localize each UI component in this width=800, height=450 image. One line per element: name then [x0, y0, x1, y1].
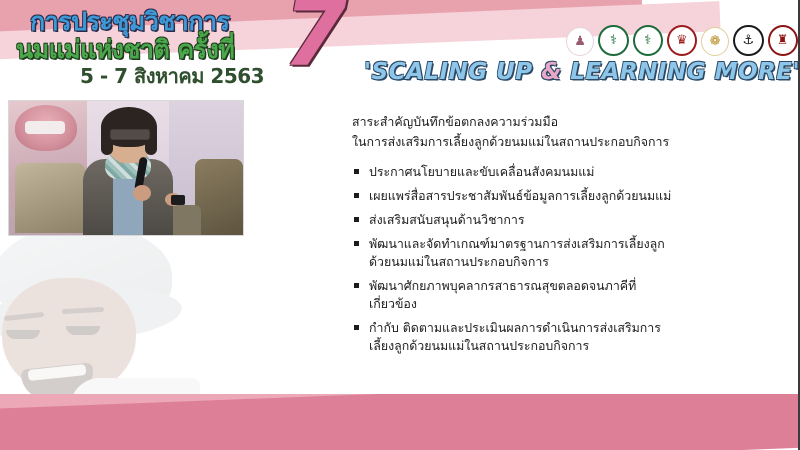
- bullet-square-icon: [354, 325, 359, 330]
- footer-pink-wedge: [0, 394, 800, 450]
- watermark-eye-left: [6, 330, 40, 339]
- list-item: พัฒนาศักยภาพบุคลากรสาธารณสุขตลอดจนภาคีที…: [352, 277, 772, 313]
- list-item-line2: เกี่ยวข้อง: [369, 295, 772, 313]
- sponsor-logo-row: ♟ ⚕ ⚕ ♛ ❁ ⚓ ♜ สสส THAI HEALTH: [566, 25, 800, 56]
- list-item-line1: ส่งเสริมสนับสนุนด้านวิชาการ: [369, 212, 525, 227]
- bullet-square-icon: [354, 193, 359, 198]
- royal-garuda-logo: ❁: [701, 27, 729, 56]
- bullet-square-icon: [354, 217, 359, 222]
- list-item-line1: กำกับ ติดตามและประเมินผลการดำเนินการส่งเ…: [369, 320, 661, 335]
- conference-date: 5 - 7 สิงหาคม 2563: [80, 60, 264, 92]
- tagline-ampersand: &: [541, 59, 562, 85]
- list-item-line1: พัฒนาและจัดทำเกณฑ์มาตรฐานการส่งเสริมการเ…: [369, 236, 665, 251]
- chair-right: [195, 159, 243, 235]
- list-item-line2: ด้วยนมแม่ในสถานประกอบกิจการ: [369, 253, 772, 271]
- list-item: เผยแพร่สื่อสารประชาสัมพันธ์ข้อมูลการเลี้…: [352, 187, 772, 205]
- tagline-part-before: 'SCALING UP: [364, 59, 541, 85]
- list-item-line2: เลี้ยงลูกด้วยนมแม่ในสถานประกอบกิจการ: [369, 337, 772, 355]
- bullet-square-icon: [354, 283, 359, 288]
- thai-royal-crest-logo: ♛: [667, 25, 697, 56]
- backdrop-teeth-graphic: [25, 121, 65, 134]
- speaker-hand-left: [133, 185, 151, 201]
- edition-number: 7: [283, 0, 347, 80]
- speaker-glasses: [110, 129, 150, 140]
- royal-patron-logo: ♟: [566, 27, 594, 56]
- national-emblem-logo: ♜: [768, 25, 798, 56]
- bullet-square-icon: [354, 169, 359, 174]
- university-seal-logo: ⚓: [733, 25, 763, 56]
- list-item: ส่งเสริมสนับสนุนด้านวิชาการ: [352, 211, 772, 229]
- chair-left: [15, 163, 85, 233]
- watermark-eye-right: [66, 326, 100, 335]
- intro-line-1: สาระสำคัญบันทึกข้อตกลงความร่วมมือ: [352, 112, 772, 132]
- tagline-part-after: LEARNING MORE': [562, 59, 800, 85]
- slide-content: สาระสำคัญบันทึกข้อตกลงความร่วมมือ ในการส…: [352, 112, 772, 361]
- bullet-square-icon: [354, 241, 359, 246]
- list-item: พัฒนาและจัดทำเกณฑ์มาตรฐานการส่งเสริมการเ…: [352, 235, 772, 271]
- list-item-line1: ประกาศนโยบายและขับเคลื่อนสังคมนมแม่: [369, 164, 594, 179]
- department-health-logo: ⚕: [633, 25, 663, 56]
- presentation-slide: การประชุมวิชาการ นมแม่แห่งชาติ ครั้งที่ …: [0, 0, 800, 450]
- header-banner: การประชุมวิชาการ นมแม่แห่งชาติ ครั้งที่ …: [0, 0, 800, 92]
- intro-line-2: ในการส่งเสริมการเลี้ยงลูกด้วยนมแม่ในสถาน…: [352, 132, 772, 152]
- ministry-public-health-logo: ⚕: [598, 25, 628, 56]
- presentation-clicker: [171, 195, 185, 205]
- bullet-list: ประกาศนโยบายและขับเคลื่อนสังคมนมแม่ เผยแ…: [352, 163, 772, 355]
- conference-tagline: 'SCALING UP & LEARNING MORE': [364, 59, 800, 85]
- conference-speaker-video[interactable]: [8, 100, 244, 236]
- smiling-child-watermark: [0, 230, 250, 420]
- list-item: กำกับ ติดตามและประเมินผลการดำเนินการส่งเ…: [352, 319, 772, 355]
- list-item: ประกาศนโยบายและขับเคลื่อนสังคมนมแม่: [352, 163, 772, 181]
- list-item-line1: เผยแพร่สื่อสารประชาสัมพันธ์ข้อมูลการเลี้…: [369, 188, 671, 203]
- list-item-line1: พัฒนาศักยภาพบุคลากรสาธารณสุขตลอดจนภาคีที…: [369, 278, 636, 293]
